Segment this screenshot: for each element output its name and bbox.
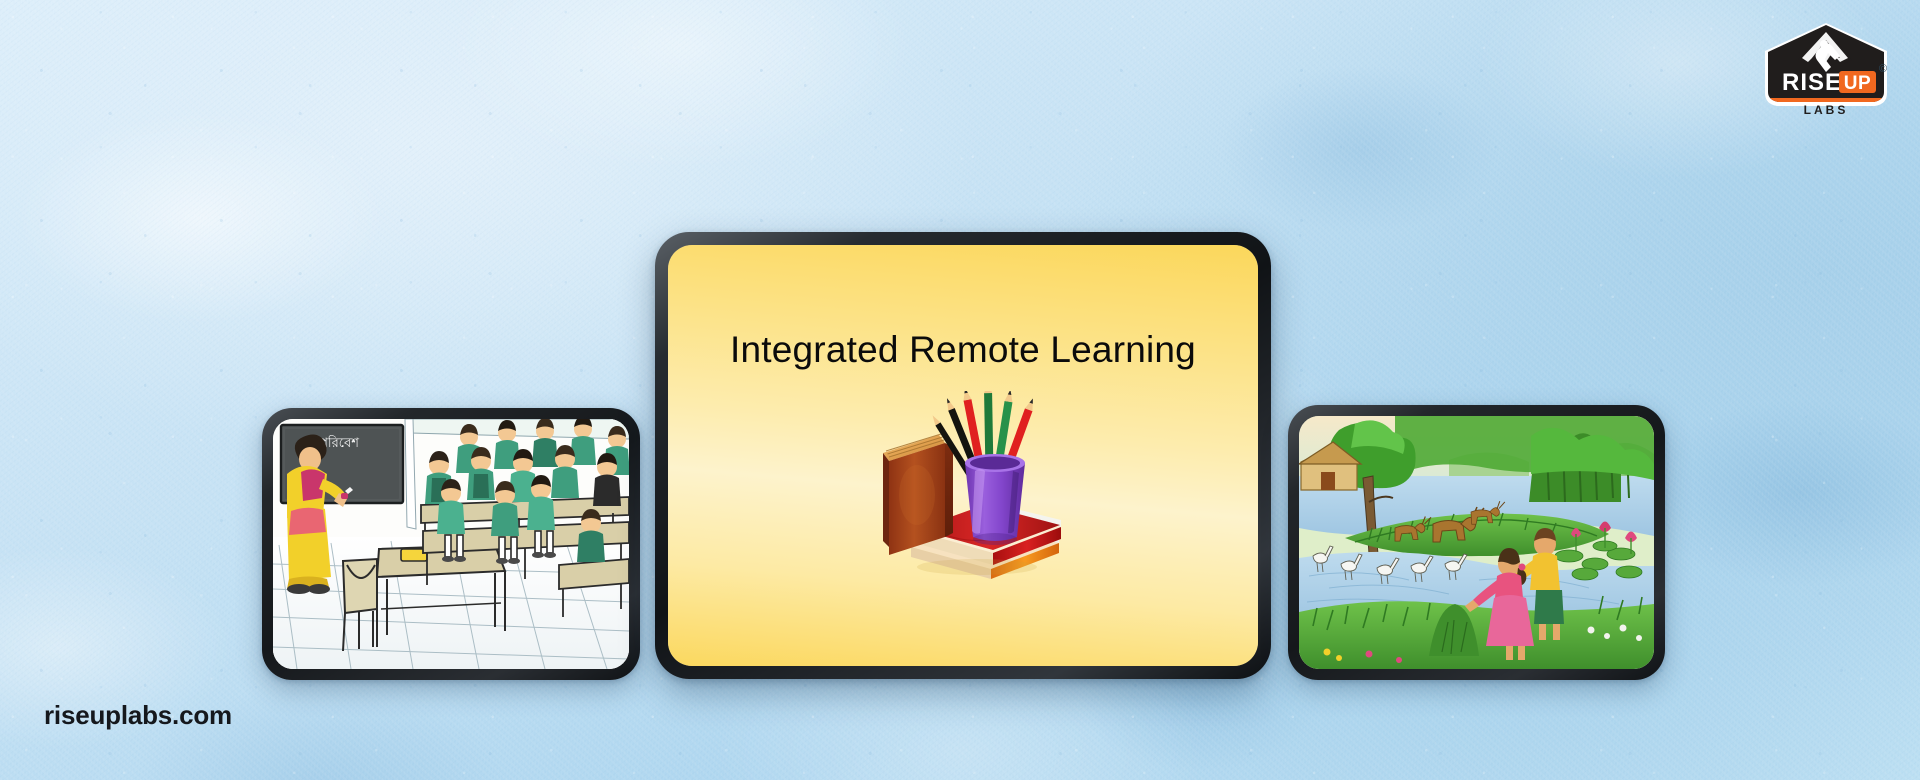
- left-tablet[interactable]: পরিবেশ: [262, 408, 640, 680]
- classroom-scene-svg: পরিবেশ: [273, 419, 629, 669]
- purple-pencil-cup: [965, 454, 1025, 545]
- right-tablet[interactable]: [1288, 405, 1665, 680]
- center-tablet-screen: Integrated Remote Learning: [668, 245, 1258, 666]
- logo-word-labs: LABS: [1804, 103, 1849, 117]
- nature-scene-svg: [1299, 416, 1654, 669]
- left-tablet-screen: পরিবেশ: [273, 419, 629, 669]
- riseup-labs-logo[interactable]: RISE UP LABS ©: [1760, 22, 1892, 118]
- nature-river-illustration: [1299, 416, 1654, 669]
- right-tablet-screen: [1299, 416, 1654, 669]
- lesson-slide: Integrated Remote Learning: [668, 245, 1258, 666]
- logo-word-up: UP: [1844, 73, 1871, 94]
- classroom-illustration: পরিবেশ: [273, 419, 629, 669]
- site-url[interactable]: riseuplabs.com: [44, 700, 232, 731]
- banner-stage: পরিবেশ: [0, 0, 1920, 780]
- center-tablet[interactable]: Integrated Remote Learning: [655, 232, 1271, 679]
- books-and-pencil-cup-svg: [853, 391, 1073, 581]
- riseup-labs-logo-svg: RISE UP LABS ©: [1760, 22, 1892, 118]
- logo-word-rise: RISE: [1782, 69, 1842, 96]
- slide-title: Integrated Remote Learning: [730, 329, 1196, 371]
- books-and-pencil-cup-illustration: [853, 391, 1073, 581]
- standing-brown-book: [883, 434, 953, 555]
- copyright-icon: ©: [1879, 63, 1887, 75]
